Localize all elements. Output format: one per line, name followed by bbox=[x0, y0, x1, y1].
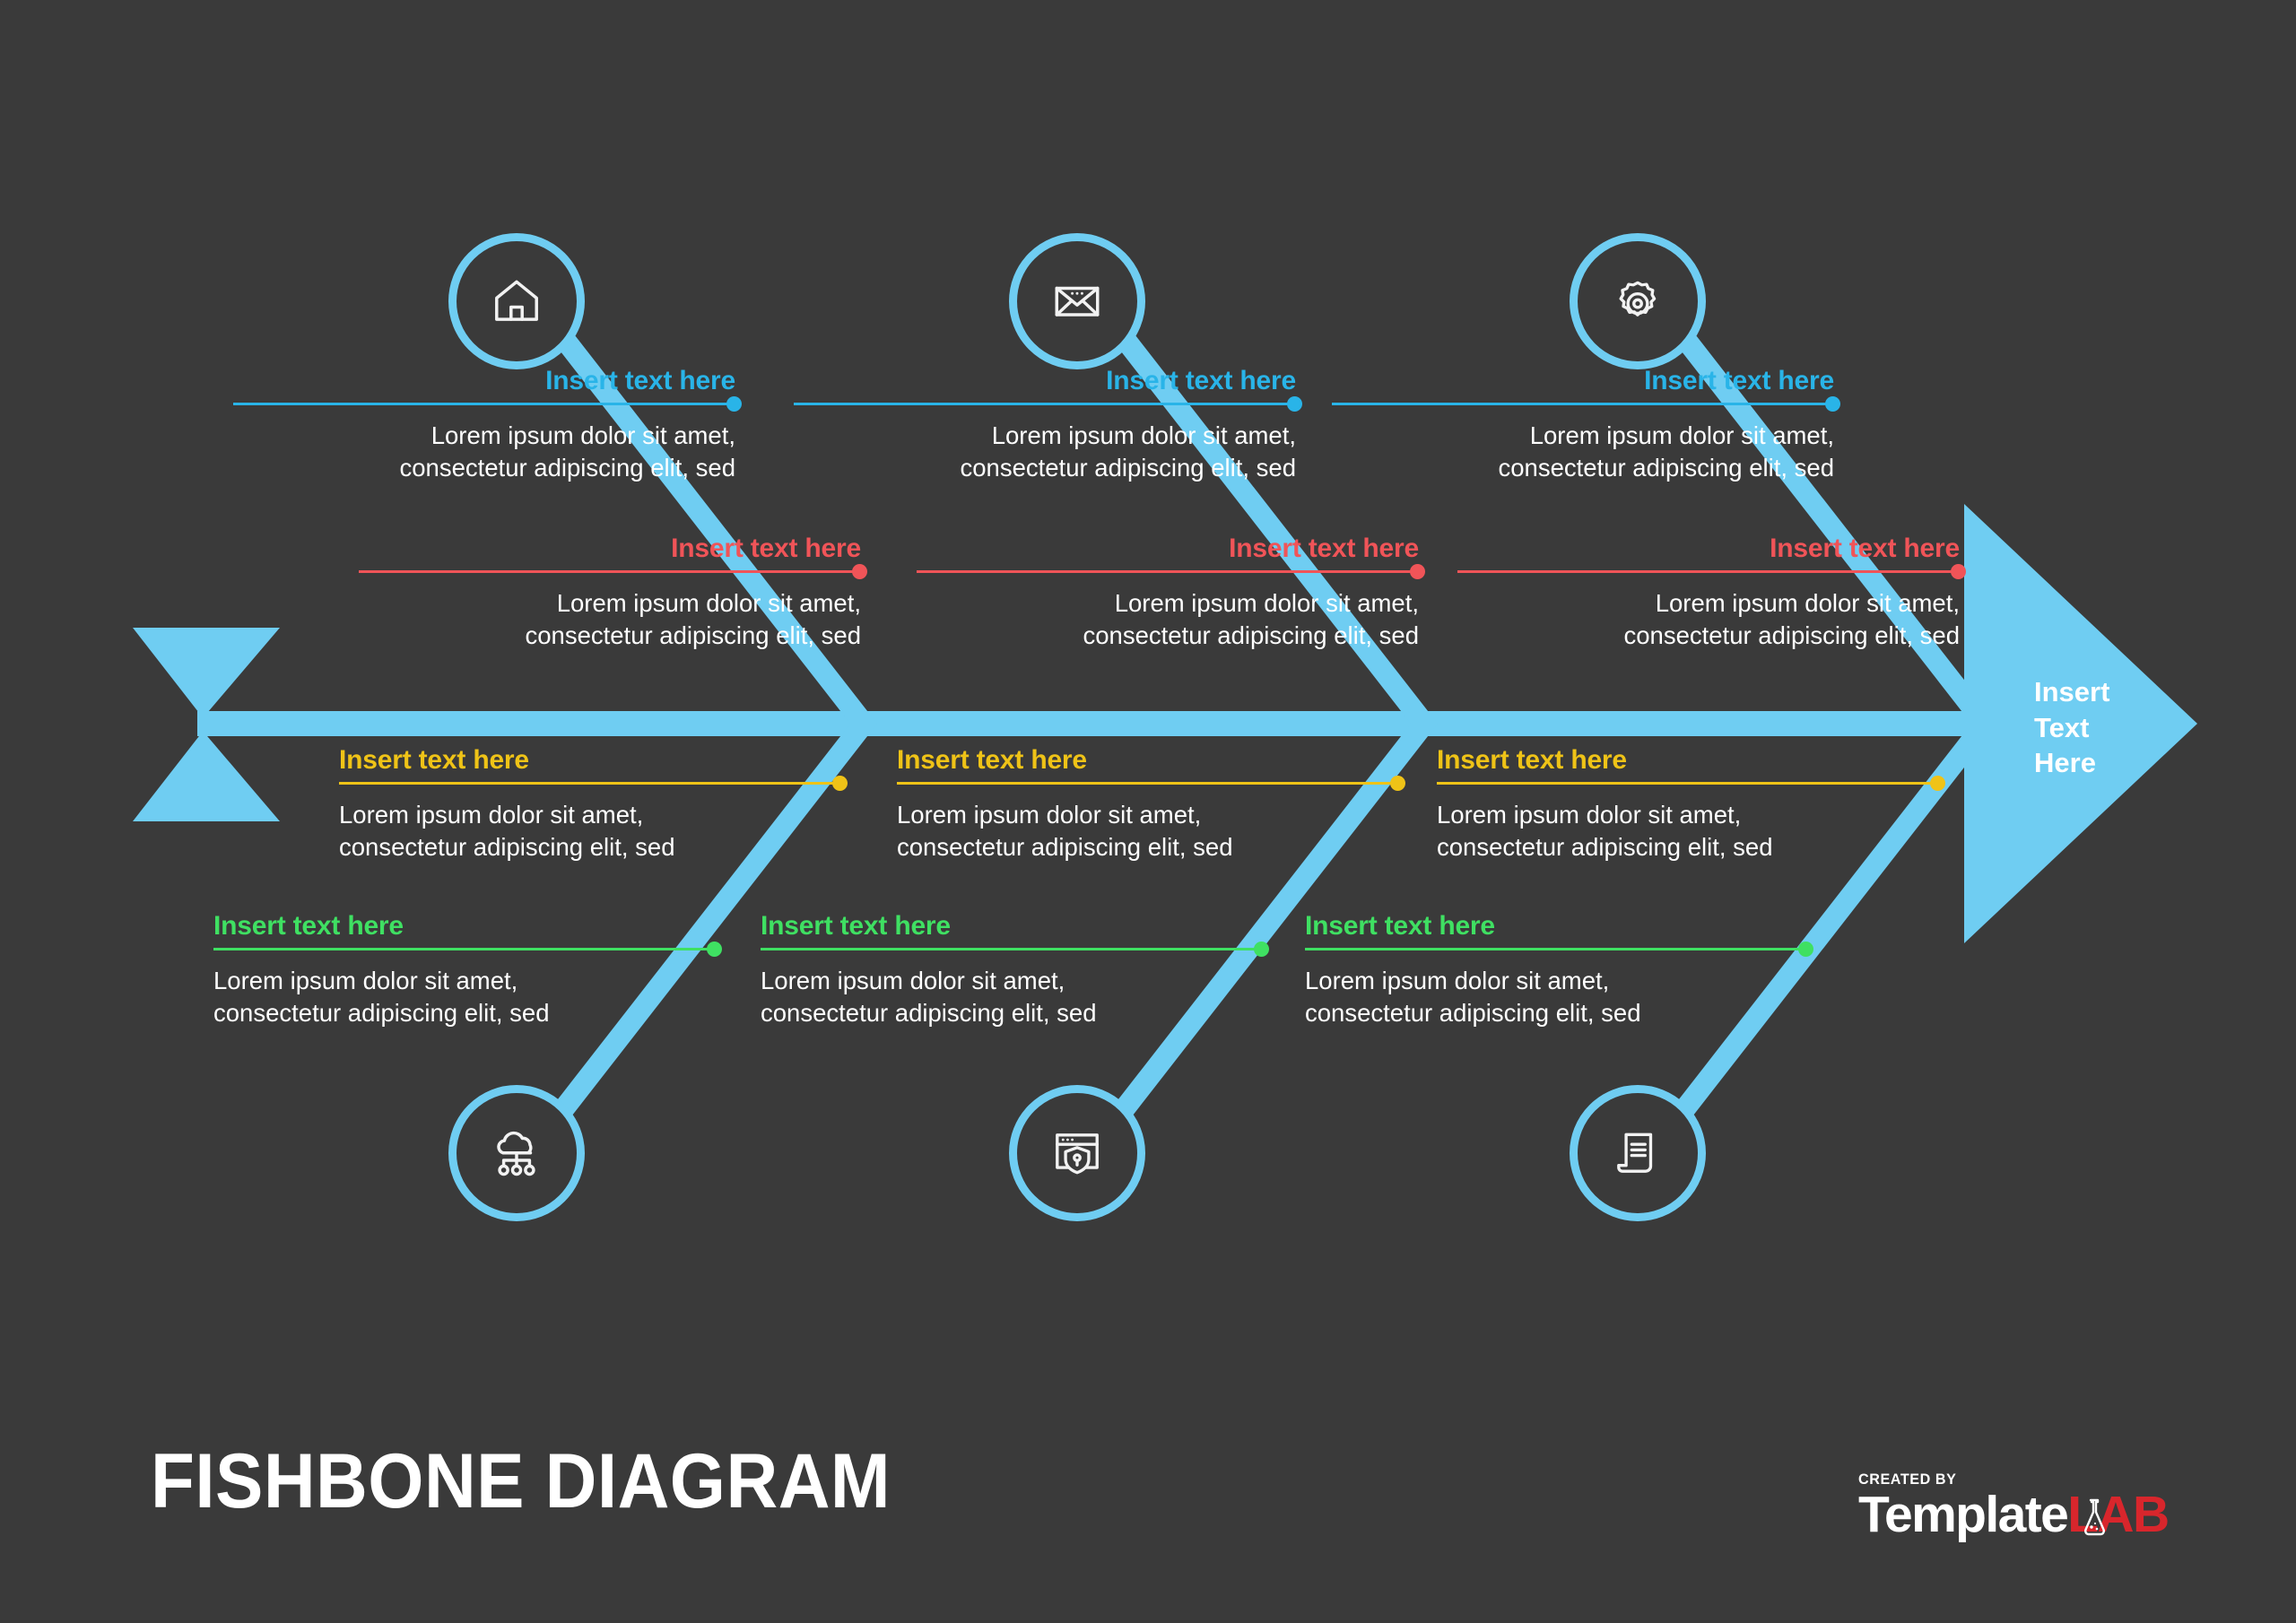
branch-body: Lorem ipsum dolor sit amet, consectetur … bbox=[1457, 587, 1960, 653]
branch-4[interactable]: Insert text here Lorem ipsum dolor sit a… bbox=[359, 535, 861, 653]
branch-11[interactable]: Insert text here Lorem ipsum dolor sit a… bbox=[761, 913, 1263, 1030]
branch-body: Lorem ipsum dolor sit amet, consectetur … bbox=[213, 965, 716, 1030]
rule-bar bbox=[233, 403, 735, 405]
rule-dot bbox=[1254, 942, 1269, 957]
branch-rule bbox=[917, 570, 1419, 573]
branch-12[interactable]: Insert text here Lorem ipsum dolor sit a… bbox=[1305, 913, 1807, 1030]
branch-rule bbox=[794, 403, 1296, 405]
rule-bar bbox=[1437, 782, 1939, 785]
branch-6[interactable]: Insert text here Lorem ipsum dolor sit a… bbox=[1457, 535, 1960, 653]
branch-body: Lorem ipsum dolor sit amet, consectetur … bbox=[339, 799, 841, 864]
rule-bar bbox=[359, 570, 861, 573]
branch-body: Lorem ipsum dolor sit amet, consectetur … bbox=[1305, 965, 1807, 1030]
browser-shield-lock-icon bbox=[1049, 1125, 1105, 1181]
branch-heading: Insert text here bbox=[1305, 913, 1807, 948]
rule-bar bbox=[917, 570, 1419, 573]
branch-heading: Insert text here bbox=[213, 913, 716, 948]
branch-7[interactable]: Insert text here Lorem ipsum dolor sit a… bbox=[339, 747, 841, 864]
branch-body: Lorem ipsum dolor sit amet, consectetur … bbox=[1332, 420, 1834, 485]
branch-1[interactable]: Insert text here Lorem ipsum dolor sit a… bbox=[233, 368, 735, 485]
branch-heading: Insert text here bbox=[794, 368, 1296, 403]
node-cloud[interactable] bbox=[448, 1085, 585, 1221]
spine-line bbox=[197, 711, 2000, 736]
branch-10[interactable]: Insert text here Lorem ipsum dolor sit a… bbox=[213, 913, 716, 1030]
branch-body: Lorem ipsum dolor sit amet, consectetur … bbox=[1437, 799, 1939, 864]
branch-2[interactable]: Insert text here Lorem ipsum dolor sit a… bbox=[794, 368, 1296, 485]
branch-body: Lorem ipsum dolor sit amet, consectetur … bbox=[233, 420, 735, 485]
branch-body: Lorem ipsum dolor sit amet, consectetur … bbox=[794, 420, 1296, 485]
rule-dot bbox=[1410, 564, 1425, 579]
branch-9[interactable]: Insert text here Lorem ipsum dolor sit a… bbox=[1437, 747, 1939, 864]
branch-rule bbox=[761, 948, 1263, 950]
branch-rule bbox=[339, 782, 841, 785]
rule-bar bbox=[339, 782, 841, 785]
branch-5[interactable]: Insert text here Lorem ipsum dolor sit a… bbox=[917, 535, 1419, 653]
rule-dot bbox=[1825, 396, 1840, 412]
branch-body: Lorem ipsum dolor sit amet, consectetur … bbox=[359, 587, 861, 653]
logo-wordmark: TemplateLAB bbox=[1858, 1489, 2169, 1541]
branch-heading: Insert text here bbox=[359, 535, 861, 570]
flask-icon bbox=[2079, 1495, 2109, 1546]
home-icon bbox=[489, 273, 544, 329]
rule-dot bbox=[1951, 564, 1966, 579]
gear-icon bbox=[1610, 273, 1665, 329]
cloud-network-icon bbox=[488, 1124, 545, 1182]
node-home[interactable] bbox=[448, 233, 585, 369]
page-title: FISHBONE DIAGRAM bbox=[151, 1437, 891, 1526]
branch-heading: Insert text here bbox=[897, 747, 1399, 782]
branch-heading: Insert text here bbox=[339, 747, 841, 782]
rule-bar bbox=[1305, 948, 1807, 950]
rule-bar bbox=[1332, 403, 1834, 405]
branch-heading: Insert text here bbox=[1332, 368, 1834, 403]
branch-rule bbox=[213, 948, 716, 950]
branch-rule bbox=[897, 782, 1399, 785]
node-browser[interactable] bbox=[1009, 1085, 1145, 1221]
rule-dot bbox=[1390, 776, 1405, 791]
envelope-icon bbox=[1049, 273, 1105, 329]
rule-dot bbox=[1798, 942, 1813, 957]
branch-rule bbox=[1437, 782, 1939, 785]
branch-heading: Insert text here bbox=[1457, 535, 1960, 570]
branch-rule bbox=[1332, 403, 1834, 405]
branch-heading: Insert text here bbox=[761, 913, 1263, 948]
branch-8[interactable]: Insert text here Lorem ipsum dolor sit a… bbox=[897, 747, 1399, 864]
rule-dot bbox=[726, 396, 742, 412]
rule-dot bbox=[832, 776, 848, 791]
fishbone-diagram-canvas: Insert Text Here bbox=[0, 0, 2296, 1623]
node-gear[interactable] bbox=[1570, 233, 1706, 369]
rule-dot bbox=[707, 942, 722, 957]
head-label: Insert Text Here bbox=[2034, 674, 2109, 781]
branch-rule bbox=[359, 570, 861, 573]
rule-dot bbox=[1287, 396, 1302, 412]
rule-bar bbox=[761, 948, 1263, 950]
branch-heading: Insert text here bbox=[1437, 747, 1939, 782]
branch-body: Lorem ipsum dolor sit amet, consectetur … bbox=[897, 799, 1399, 864]
logo-name-light: Template bbox=[1858, 1486, 2067, 1543]
node-doc[interactable] bbox=[1570, 1085, 1706, 1221]
node-mail[interactable] bbox=[1009, 233, 1145, 369]
branch-body: Lorem ipsum dolor sit amet, consectetur … bbox=[917, 587, 1419, 653]
branch-rule bbox=[1305, 948, 1807, 950]
branch-rule bbox=[233, 403, 735, 405]
branch-heading: Insert text here bbox=[917, 535, 1419, 570]
rule-dot bbox=[1930, 776, 1945, 791]
branch-rule bbox=[1457, 570, 1960, 573]
rule-bar bbox=[794, 403, 1296, 405]
rule-dot bbox=[852, 564, 867, 579]
branch-heading: Insert text here bbox=[233, 368, 735, 403]
branch-body: Lorem ipsum dolor sit amet, consectetur … bbox=[761, 965, 1263, 1030]
templatelab-logo: CREATED BY TemplateLAB bbox=[1858, 1471, 2169, 1541]
rule-bar bbox=[897, 782, 1399, 785]
rule-bar bbox=[1457, 570, 1960, 573]
document-icon bbox=[1610, 1125, 1665, 1181]
rule-bar bbox=[213, 948, 716, 950]
branch-3[interactable]: Insert text here Lorem ipsum dolor sit a… bbox=[1332, 368, 1834, 485]
